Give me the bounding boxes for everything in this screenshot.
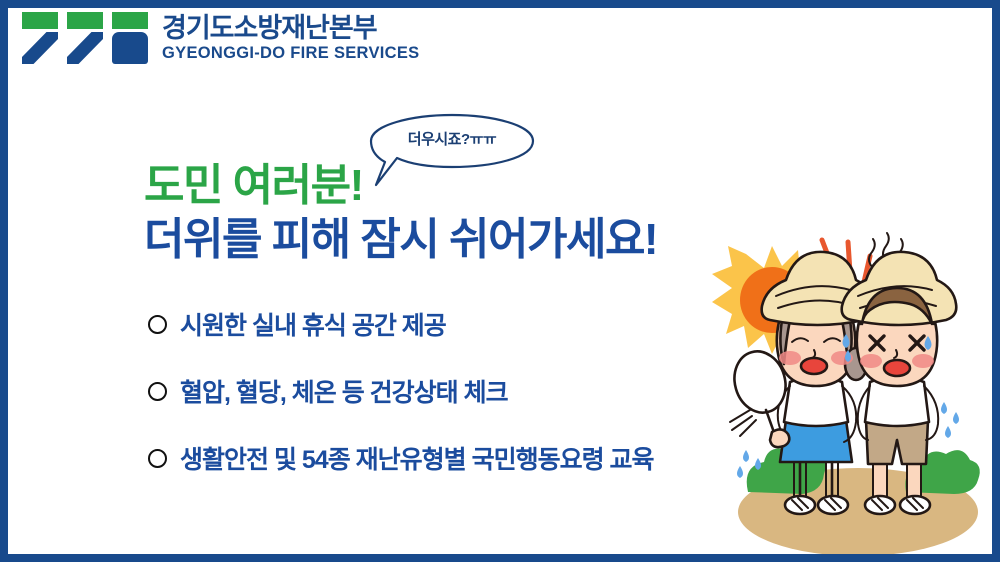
organization-name-english: GYEONGGI-DO FIRE SERVICES	[162, 44, 420, 62]
organization-name-block: 경기도소방재난본부 GYEONGGI-DO FIRE SERVICES	[162, 14, 420, 61]
logo-glyph-2	[67, 12, 103, 64]
gyeonggi-fire-logo-mark-icon	[22, 12, 148, 64]
circle-outline-icon	[148, 449, 167, 468]
poster-canvas: 경기도소방재난본부 GYEONGGI-DO FIRE SERVICES 더우시죠…	[0, 0, 1000, 562]
headline-line-2: 더위를 피해 잠시 쉬어가세요!	[144, 216, 657, 264]
circle-outline-icon	[148, 382, 167, 401]
bullet-list: 시원한 실내 휴식 공간 제공 혈압, 혈당, 체온 등 건강상태 체크 생활안…	[148, 306, 654, 507]
logo-glyph-3	[112, 12, 148, 64]
speech-bubble-text: 더우시죠?ㅠㅠ	[368, 112, 536, 168]
logo-glyph-3-block	[112, 32, 148, 64]
list-item: 혈압, 혈당, 체온 등 건강상태 체크	[148, 373, 654, 409]
circle-outline-icon	[148, 315, 167, 334]
straw-hat	[842, 252, 957, 325]
list-item-label: 시원한 실내 휴식 공간 제공	[180, 306, 446, 342]
logo-glyph-2-stroke	[67, 32, 103, 64]
list-item-label: 혈압, 혈당, 체온 등 건강상태 체크	[180, 373, 508, 409]
logo-glyph-2-bar	[67, 12, 103, 29]
speech-bubble: 더우시죠?ㅠㅠ	[368, 112, 548, 198]
list-item-label: 생활안전 및 54종 재난유형별 국민행동요령 교육	[180, 440, 654, 476]
two-children-suffering-from-heat-illustration: .ol { stroke:#231815; stroke-width:2.6; …	[710, 224, 992, 554]
organization-name-korean: 경기도소방재난본부	[162, 14, 420, 42]
logo-glyph-1-bar	[22, 12, 58, 29]
logo-glyph-1	[22, 12, 58, 64]
logo-glyph-1-stroke	[22, 32, 58, 64]
list-item: 시원한 실내 휴식 공간 제공	[148, 306, 654, 342]
logo-glyph-3-bar	[112, 12, 148, 29]
header-logo-block: 경기도소방재난본부 GYEONGGI-DO FIRE SERVICES	[22, 12, 420, 64]
list-item: 생활안전 및 54종 재난유형별 국민행동요령 교육	[148, 440, 654, 476]
